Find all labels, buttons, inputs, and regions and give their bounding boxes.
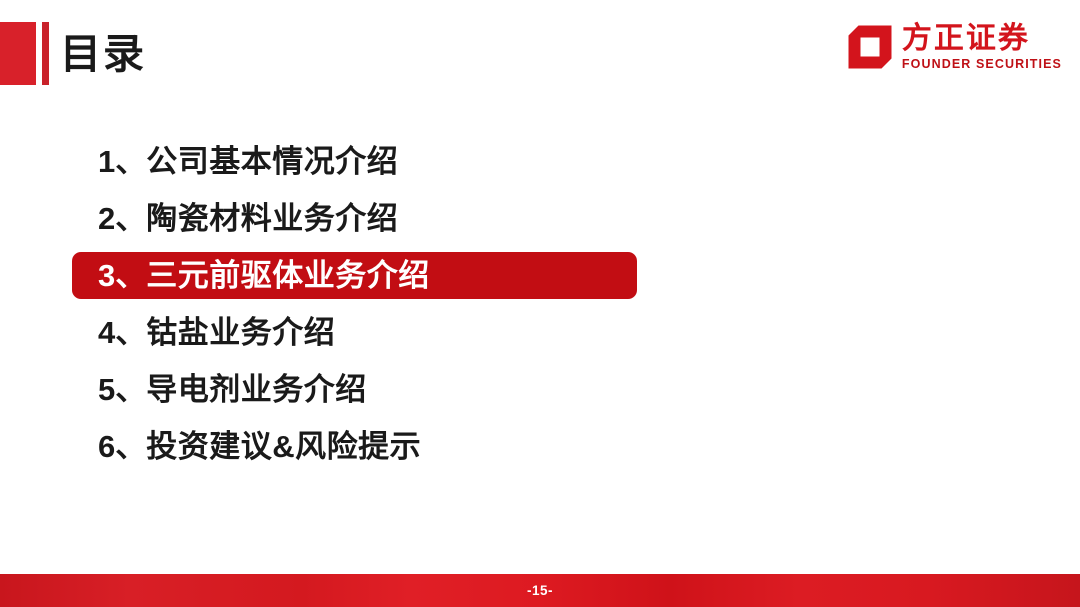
toc-item-1-number: 1、 xyxy=(98,138,146,185)
toc-item-3-label: 三元前驱体业务介绍 xyxy=(146,252,430,299)
logo-wordmark: 方正证券 FOUNDER SECURITIES xyxy=(902,22,1062,72)
toc-item-3-number: 3、 xyxy=(98,252,146,299)
toc-item-3-inner: 3、 三元前驱体业务介绍 xyxy=(72,252,637,299)
toc-item-6[interactable]: 6、 投资建议&风险提示 xyxy=(0,423,1080,470)
toc-item-2-label: 陶瓷材料业务介绍 xyxy=(146,195,398,242)
toc-item-4-inner: 4、 钴盐业务介绍 xyxy=(72,309,361,356)
toc-item-4-label: 钴盐业务介绍 xyxy=(146,309,335,356)
title-accent-bar xyxy=(42,22,49,85)
toc-item-5-label: 导电剂业务介绍 xyxy=(146,366,367,413)
toc-item-2-number: 2、 xyxy=(98,195,146,242)
slide-header: 目录 方正证券 FOUNDER SECURITIES xyxy=(0,0,1080,100)
toc-item-4-number: 4、 xyxy=(98,309,146,356)
toc-item-6-number: 6、 xyxy=(98,423,146,470)
founder-securities-logo-mark-icon xyxy=(847,24,893,70)
title-accent-block xyxy=(0,22,36,85)
toc-item-1[interactable]: 1、 公司基本情况介绍 xyxy=(0,138,1080,185)
toc-item-2[interactable]: 2、 陶瓷材料业务介绍 xyxy=(0,195,1080,242)
toc-item-5-number: 5、 xyxy=(98,366,146,413)
slide-footer: -15- xyxy=(0,574,1080,607)
toc-item-6-label: 投资建议&风险提示 xyxy=(146,423,421,470)
toc-item-5-inner: 5、 导电剂业务介绍 xyxy=(72,366,393,413)
logo-chinese-name: 方正证券 xyxy=(902,22,1030,56)
toc-item-4[interactable]: 4、 钴盐业务介绍 xyxy=(0,309,1080,356)
toc-item-2-inner: 2、 陶瓷材料业务介绍 xyxy=(72,195,424,242)
table-of-contents: 1、 公司基本情况介绍 2、 陶瓷材料业务介绍 3、 三元前驱体业务介绍 4、 … xyxy=(0,138,1080,480)
page-title: 目录 xyxy=(60,28,146,80)
page-number: -15- xyxy=(0,574,1080,607)
slide: 目录 方正证券 FOUNDER SECURITIES 1、 公司基本情况介绍 xyxy=(0,0,1080,607)
toc-item-1-label: 公司基本情况介绍 xyxy=(146,138,398,185)
toc-item-1-inner: 1、 公司基本情况介绍 xyxy=(72,138,424,185)
toc-item-6-inner: 6、 投资建议&风险提示 xyxy=(72,423,447,470)
toc-item-5[interactable]: 5、 导电剂业务介绍 xyxy=(0,366,1080,413)
company-logo: 方正证券 FOUNDER SECURITIES xyxy=(847,22,1062,72)
logo-english-name: FOUNDER SECURITIES xyxy=(902,56,1062,72)
toc-item-3[interactable]: 3、 三元前驱体业务介绍 xyxy=(0,252,1080,299)
